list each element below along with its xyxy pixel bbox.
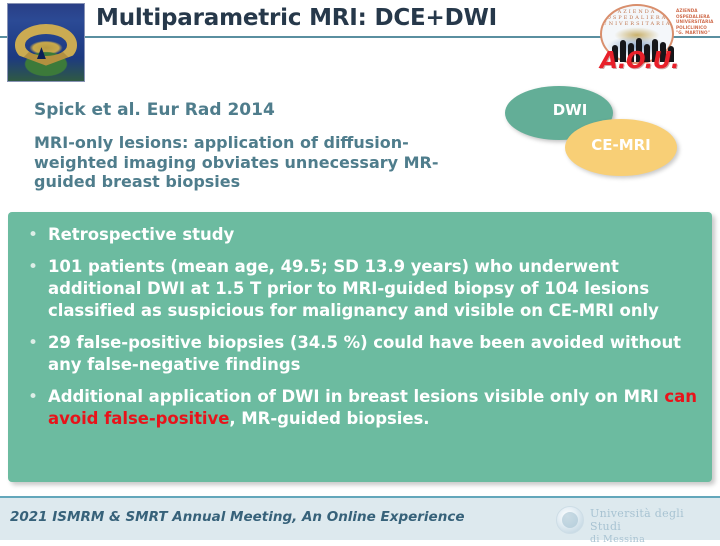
bullet-item: •Additional application of DWI in breast… (22, 386, 698, 430)
slide-header: Multiparametric MRI: DCE+DWI AZIENDA OSP… (0, 0, 720, 92)
unime-seal-inner-circle (562, 512, 578, 528)
unime-logo-text: Università degli Studi di Messina (590, 507, 712, 546)
unime-seal-icon (556, 506, 584, 534)
bullet-text: 29 false-positive biopsies (34.5 %) coul… (48, 332, 698, 376)
bullet-marker-icon: • (22, 256, 48, 278)
bullet-text-segment: 29 false-positive biopsies (34.5 %) coul… (48, 333, 681, 374)
aou-acronym-text: A.O.U. (600, 48, 708, 74)
aou-logo: AZIENDA OSPEDALIERA UNIVERSITARIA A.O.U.… (596, 2, 712, 82)
cemri-ellipse: CE-MRI (565, 119, 677, 176)
bullet-item: •29 false-positive biopsies (34.5 %) cou… (22, 332, 698, 376)
bullet-marker-icon: • (22, 332, 48, 354)
bullet-marker-icon: • (22, 224, 48, 246)
cemri-ellipse-label: CE-MRI (565, 136, 677, 154)
citation-article-title: MRI-only lesions: application of diffusi… (34, 133, 454, 192)
bullet-text-segment: Additional application of DWI in breast … (48, 387, 664, 406)
footer-meeting-text: 2021 ISMRM & SMRT Annual Meeting, An Onl… (10, 509, 465, 525)
messina-harbor-painting-image (7, 3, 85, 82)
bullet-text-segment: Retrospective study (48, 225, 234, 244)
bullet-item: •Retrospective study (22, 224, 698, 246)
unime-logo-text-line1: Università degli Studi (590, 507, 712, 533)
citation-reference: Spick et al. Eur Rad 2014 (34, 100, 484, 120)
bullet-text: Additional application of DWI in breast … (48, 386, 698, 430)
bullet-content-box: •Retrospective study•101 patients (mean … (8, 212, 712, 482)
bullet-text: 101 patients (mean age, 49.5; SD 13.9 ye… (48, 256, 698, 322)
bullet-text: Retrospective study (48, 224, 698, 246)
painting-city-arc (15, 24, 77, 66)
slide-footer: 2021 ISMRM & SMRT Annual Meeting, An Onl… (0, 498, 720, 540)
bullet-text-segment: 101 patients (mean age, 49.5; SD 13.9 ye… (48, 257, 659, 320)
page-title: Multiparametric MRI: DCE+DWI (96, 5, 576, 31)
citation-block: Spick et al. Eur Rad 2014 MRI-only lesio… (34, 100, 484, 192)
bullet-text-segment: , MR-guided biopsies. (229, 409, 429, 428)
aou-subtitle-text: AZIENDA OSPEDALIERA UNIVERSITARIA POLICL… (676, 8, 712, 36)
unime-logo: Università degli Studi di Messina (556, 502, 712, 536)
aou-seal-ring-text: AZIENDA OSPEDALIERA UNIVERSITARIA (602, 9, 672, 27)
bullet-marker-icon: • (22, 386, 48, 408)
bullet-item: •101 patients (mean age, 49.5; SD 13.9 y… (22, 256, 698, 322)
dwi-ellipse-label: DWI (505, 101, 613, 119)
